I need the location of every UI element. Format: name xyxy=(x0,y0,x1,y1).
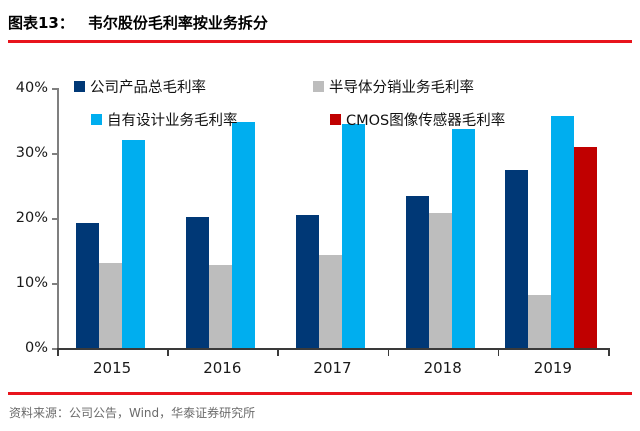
legend-swatch-design-icon xyxy=(91,114,102,125)
bar-2015-series-1 xyxy=(99,263,122,348)
legend-label-cmos: CMOS图像传感器毛利率 xyxy=(346,109,505,130)
legend-label-distribution: 半导体分销业务毛利率 xyxy=(329,76,474,97)
bar-2018-series-1 xyxy=(429,213,452,348)
y-axis-tick-label: 0% xyxy=(25,340,48,356)
x-axis-tick xyxy=(608,348,610,356)
x-axis-label: 2019 xyxy=(534,359,572,377)
y-axis-tick xyxy=(52,88,58,90)
footer-divider xyxy=(8,392,632,395)
legend-item-total[interactable]: 公司产品总毛利率 xyxy=(74,76,206,97)
page-title: 韦尔股份毛利率按业务拆分 xyxy=(88,12,268,33)
x-axis-tick xyxy=(498,348,500,356)
y-axis-tick xyxy=(52,283,58,285)
chart-area: 0%10%20%30%40% 20152016201720182019 公司产品… xyxy=(0,46,640,392)
x-axis-tick xyxy=(167,348,169,356)
bar-2016-series-2 xyxy=(232,122,255,348)
x-axis-tick xyxy=(388,348,390,356)
y-axis-tick-label: 20% xyxy=(16,210,48,226)
legend-swatch-cmos-icon xyxy=(330,114,341,125)
bar-2019-series-1 xyxy=(528,295,551,348)
legend-item-distribution[interactable]: 半导体分销业务毛利率 xyxy=(313,76,474,97)
header-divider xyxy=(8,40,632,43)
source-note: 资料来源：公司公告，Wind，华泰证券研究所 xyxy=(9,404,255,421)
legend-label-total: 公司产品总毛利率 xyxy=(90,76,206,97)
plot-region: 0%10%20%30%40% 20152016201720182019 xyxy=(57,46,617,392)
bar-2017-series-0 xyxy=(296,215,319,348)
legend-item-design[interactable]: 自有设计业务毛利率 xyxy=(91,109,238,130)
y-axis-tick xyxy=(52,153,58,155)
y-axis-tick-label: 10% xyxy=(16,275,48,291)
legend-swatch-distribution-icon xyxy=(313,81,324,92)
legend-item-cmos[interactable]: CMOS图像传感器毛利率 xyxy=(330,109,505,130)
legend-label-design: 自有设计业务毛利率 xyxy=(107,109,238,130)
bar-2018-series-2 xyxy=(452,129,475,348)
y-axis-tick-label: 30% xyxy=(16,145,48,161)
y-axis-tick xyxy=(52,218,58,220)
y-axis-tick-label: 40% xyxy=(16,80,48,96)
x-axis-label: 2016 xyxy=(203,359,241,377)
bar-2017-series-2 xyxy=(342,124,365,348)
x-axis-label: 2018 xyxy=(424,359,462,377)
bar-2015-series-0 xyxy=(76,223,99,348)
bar-2018-series-0 xyxy=(406,196,429,348)
bar-2016-series-1 xyxy=(209,265,232,348)
x-axis-label: 2017 xyxy=(313,359,351,377)
exhibit-header: 图表13： 韦尔股份毛利率按业务拆分 xyxy=(0,0,640,46)
legend-swatch-total-icon xyxy=(74,81,85,92)
x-axis-label: 2015 xyxy=(93,359,131,377)
bar-2017-series-1 xyxy=(319,255,342,348)
bar-2019-series-3 xyxy=(574,147,597,349)
x-axis-tick xyxy=(57,348,59,356)
x-axis-tick xyxy=(277,348,279,356)
x-axis-line xyxy=(57,348,608,350)
bar-2019-series-0 xyxy=(505,170,528,348)
exhibit-number-label: 图表13： xyxy=(8,12,74,33)
bar-2019-series-2 xyxy=(551,116,574,348)
bar-2016-series-0 xyxy=(186,217,209,348)
bar-2015-series-2 xyxy=(122,140,145,348)
exhibit-title-row: 图表13： 韦尔股份毛利率按业务拆分 xyxy=(8,12,268,33)
